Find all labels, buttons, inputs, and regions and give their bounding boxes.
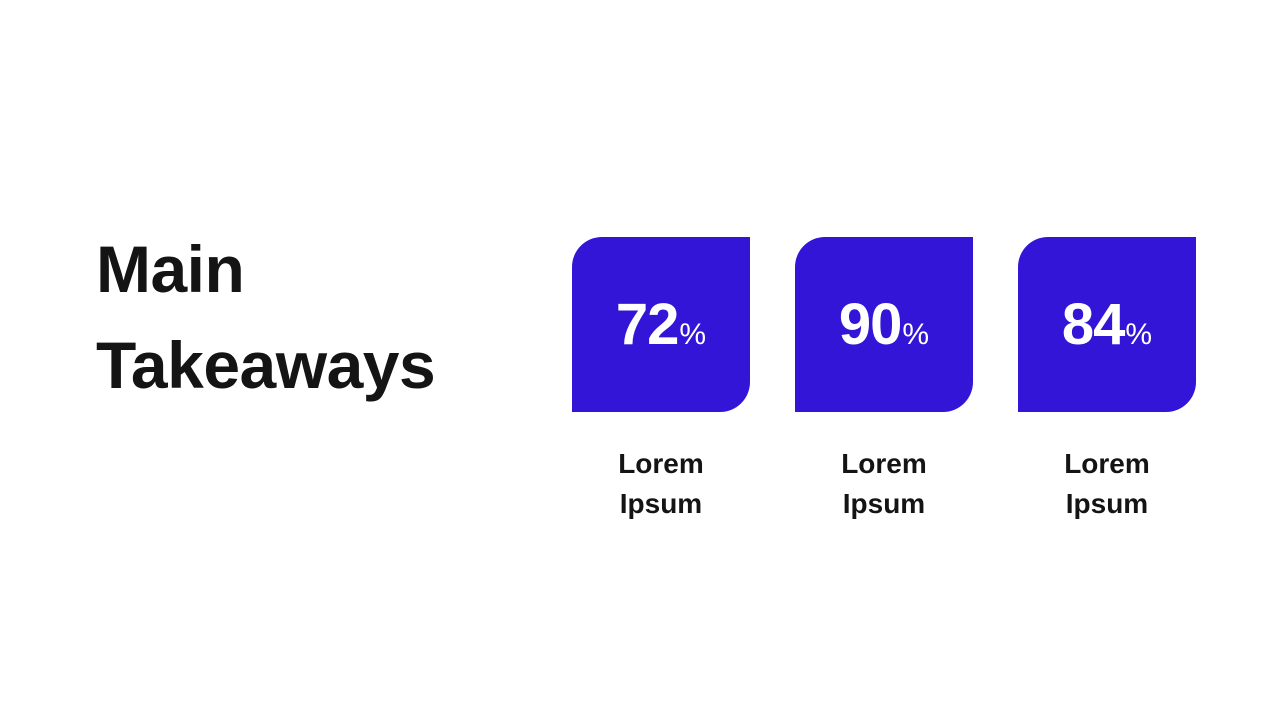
stat-number: 72 — [616, 296, 679, 354]
stat-item: 90 % Lorem Ipsum — [795, 237, 973, 524]
stat-value: 90 % — [839, 296, 929, 354]
stat-unit: % — [902, 320, 929, 350]
stat-card[interactable]: 72 % — [572, 237, 750, 412]
stat-unit: % — [1125, 320, 1152, 350]
stat-item: 72 % Lorem Ipsum — [572, 237, 750, 524]
stat-caption: Lorem Ipsum — [1064, 444, 1150, 524]
stats-row: 72 % Lorem Ipsum 90 % Lorem Ipsum 84 % — [572, 237, 1196, 524]
slide-canvas: Main Takeaways 72 % Lorem Ipsum 90 % Lor… — [0, 0, 1280, 720]
title-block: Main Takeaways — [96, 222, 516, 413]
page-title: Main Takeaways — [96, 222, 516, 413]
stat-number: 84 — [1062, 296, 1125, 354]
stat-card[interactable]: 90 % — [795, 237, 973, 412]
stat-caption: Lorem Ipsum — [618, 444, 704, 524]
stat-card[interactable]: 84 % — [1018, 237, 1196, 412]
stat-number: 90 — [839, 296, 902, 354]
stat-caption: Lorem Ipsum — [841, 444, 927, 524]
stat-value: 84 % — [1062, 296, 1152, 354]
stat-value: 72 % — [616, 296, 706, 354]
stat-unit: % — [679, 320, 706, 350]
stat-item: 84 % Lorem Ipsum — [1018, 237, 1196, 524]
